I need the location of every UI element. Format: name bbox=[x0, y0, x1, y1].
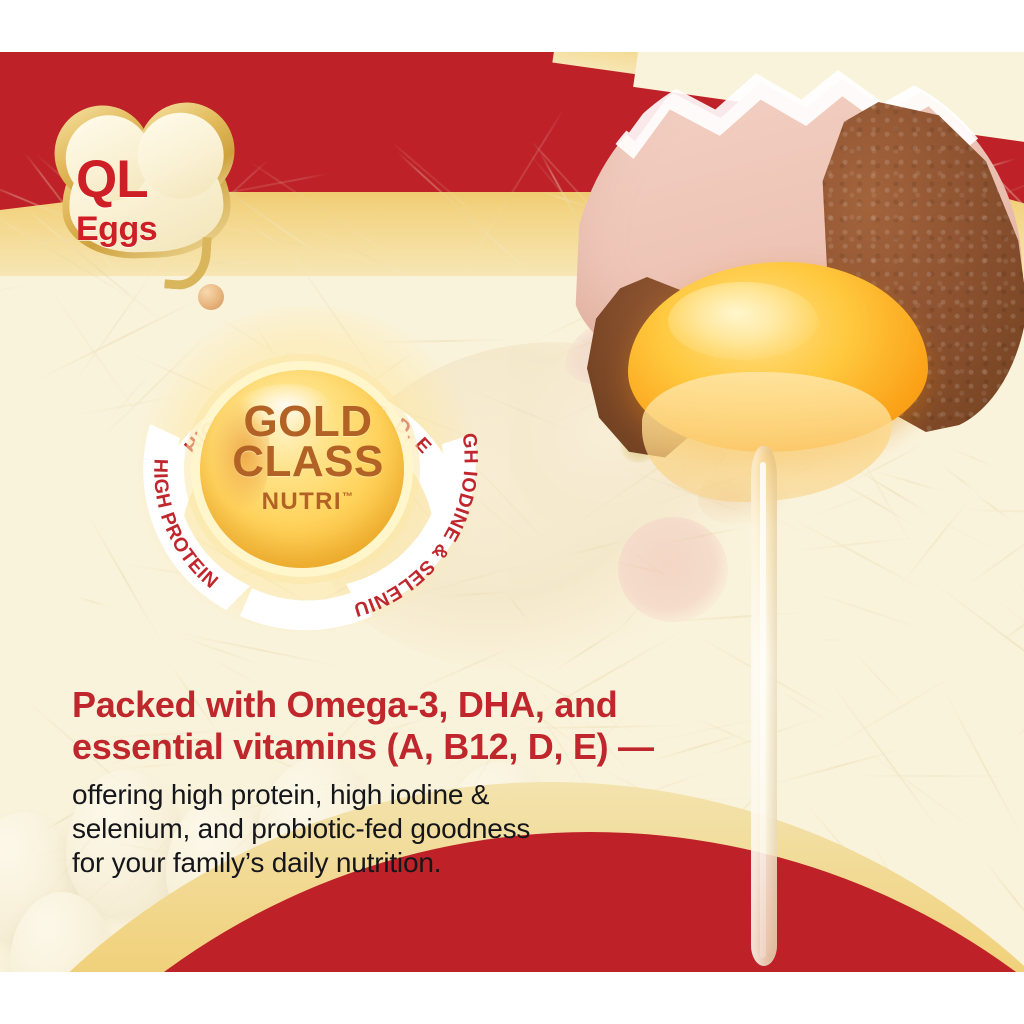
logo-wordmark: QLEggs bbox=[76, 154, 226, 246]
logo-egg-dot bbox=[198, 284, 224, 310]
headline-line-1: Packed with Omega-3, DHA, and bbox=[72, 684, 682, 726]
badge-title-class: CLASS bbox=[122, 442, 494, 482]
body-line-2: selenium, and probiotic-fed goodness bbox=[72, 812, 682, 846]
logo-eggs-text: Eggs bbox=[76, 206, 157, 246]
body-line-1: offering high protein, high iodine & bbox=[72, 778, 682, 812]
cracked-egg-photo bbox=[556, 52, 1024, 602]
badge-title-gold: GOLD bbox=[122, 402, 494, 442]
trademark-icon: ™ bbox=[342, 491, 354, 503]
body-copy: offering high protein, high iodine & sel… bbox=[72, 778, 682, 880]
badge-arc-bottom-shape bbox=[240, 588, 372, 630]
headline: Packed with Omega-3, DHA, and essential … bbox=[72, 684, 682, 768]
gold-class-nutri-badge: HIGH VITAMIN A, B12, D, E HIGH PROTEIN H… bbox=[122, 304, 494, 634]
promo-banner-canvas: QLEggs HIGH VITAMIN A, B12, D, E bbox=[0, 0, 1024, 1024]
badge-nutri-text: NUTRI bbox=[262, 488, 342, 515]
badge-subtitle-nutri: NUTRI™ bbox=[122, 482, 494, 517]
ql-eggs-logo[interactable]: QLEggs bbox=[62, 130, 242, 280]
headline-line-2: essential vitamins (A, B12, D, E) — bbox=[72, 726, 682, 768]
logo-ql-text: QL bbox=[76, 154, 148, 206]
body-line-3: for your family’s daily nutrition. bbox=[72, 846, 682, 880]
promo-copy-block: Packed with Omega-3, DHA, and essential … bbox=[72, 684, 682, 880]
egg-yolk-highlight bbox=[668, 282, 818, 360]
badge-wordmark: GOLD CLASS NUTRI™ bbox=[122, 402, 494, 517]
egg-white-drip-sheen bbox=[760, 462, 766, 958]
promo-banner: QLEggs HIGH VITAMIN A, B12, D, E bbox=[0, 52, 1024, 972]
